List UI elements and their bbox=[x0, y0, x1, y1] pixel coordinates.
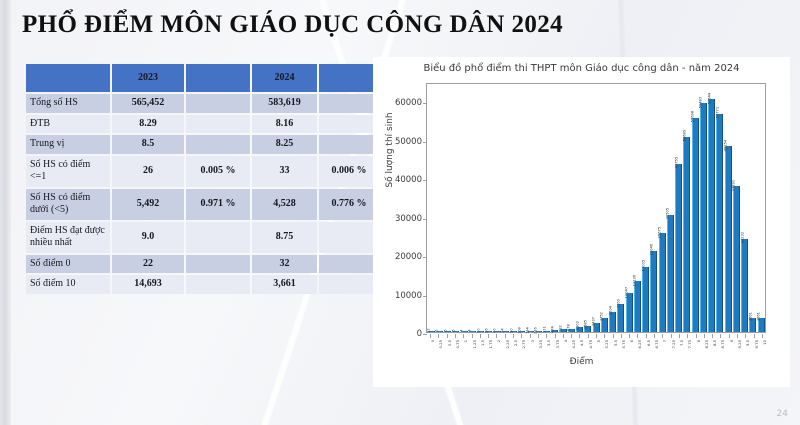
chart-y-axis-label: Số lượng thí sinh bbox=[385, 95, 395, 205]
x-axis-tick-label: 8.5 bbox=[712, 340, 717, 346]
row-value-2023: 9.0 bbox=[112, 222, 184, 253]
chart-bar: 37891 bbox=[733, 186, 740, 332]
x-axis-tick bbox=[646, 334, 647, 338]
x-axis-tick bbox=[654, 334, 655, 338]
x-axis-tick-label: 7.5 bbox=[679, 340, 684, 346]
x-axis-tick-label: 1 bbox=[463, 340, 468, 342]
x-axis-tick-label: 9.5 bbox=[745, 340, 750, 346]
chart-bar: 3661 bbox=[758, 318, 765, 332]
x-axis-tick bbox=[712, 334, 713, 338]
x-axis-tick-label: 5.75 bbox=[621, 340, 626, 348]
chart-bar-cell: 1685 bbox=[584, 84, 592, 332]
chart-bar-cell: 21046 bbox=[650, 84, 658, 332]
x-axis-tick-label: 3.5 bbox=[546, 340, 551, 346]
chart-bar-cell: 226 bbox=[534, 84, 542, 332]
chart-bar-value-label: 10047 bbox=[626, 287, 630, 298]
chart-bar: 3752 bbox=[601, 318, 608, 332]
chart-bar-value-label: 24232 bbox=[741, 232, 745, 243]
table-row: Số điểm 0 22 32 bbox=[26, 255, 379, 274]
chart-bar-cell: 17005 bbox=[642, 84, 650, 332]
x-axis-tick-label: 2.75 bbox=[521, 340, 526, 348]
chart-bar-cell: 4 bbox=[468, 84, 476, 332]
row-pct-2023: 0.005 % bbox=[186, 156, 250, 187]
x-axis-tick bbox=[530, 334, 531, 338]
slide-canvas: PHỔ ĐIỂM MÔN GIÁO DỤC CÔNG DÂN 2024 2023… bbox=[0, 0, 800, 425]
chart-bar-cell: 474 bbox=[551, 84, 559, 332]
x-axis-tick bbox=[604, 334, 605, 338]
chart-bar-cell: 1303 bbox=[576, 84, 584, 332]
chart-bar: 13136 bbox=[634, 281, 641, 332]
table-row: ĐTB 8.29 8.16 bbox=[26, 115, 379, 134]
chart-plot-area: 3266644202640345010813422631147468287813… bbox=[426, 83, 766, 333]
x-axis-tick bbox=[613, 334, 614, 338]
table-row: Số HS có điểm dưới (<5) 5,492 0.971 % 4,… bbox=[26, 189, 379, 220]
chart-bar-value-label: 37891 bbox=[733, 180, 737, 191]
y-axis-tick: 50000 bbox=[395, 137, 422, 147]
x-axis-tick-label: 0.75 bbox=[455, 340, 460, 348]
header-cell-blank3 bbox=[319, 64, 379, 92]
x-axis-tick-label: 7 bbox=[662, 340, 667, 342]
chart-bar-value-label: 40 bbox=[494, 328, 498, 333]
chart-bar: 6 bbox=[452, 331, 459, 332]
chart-bar: 24232 bbox=[741, 239, 748, 332]
x-axis-tick-label: 1.75 bbox=[488, 340, 493, 348]
x-axis-tick-label: 0.5 bbox=[447, 340, 452, 346]
chart-bar: 311 bbox=[543, 331, 550, 332]
x-axis-tick-label: 9 bbox=[729, 340, 734, 342]
x-axis-tick-label: 4.5 bbox=[579, 340, 584, 346]
chart-bar-value-label: 50 bbox=[510, 328, 514, 333]
chart-bar-cell: 24232 bbox=[741, 84, 749, 332]
chart-bar-value-label: 43755 bbox=[675, 157, 679, 168]
chart-bar-cell: 5204 bbox=[609, 84, 617, 332]
chart-bar: 108 bbox=[518, 331, 525, 332]
x-axis-tick-label: 7.25 bbox=[671, 340, 676, 348]
chart-bar: 1303 bbox=[576, 327, 583, 332]
chart-bar-cell: 3661 bbox=[757, 84, 765, 332]
chart-bar-value-label: 30505 bbox=[667, 208, 671, 219]
row-pct-2023 bbox=[186, 115, 250, 134]
x-axis-tick-label: 6.25 bbox=[637, 340, 642, 348]
table-row: Trung vị 8.5 8.25 bbox=[26, 135, 379, 154]
row-value-2024: 8.25 bbox=[252, 135, 317, 154]
chart-bar-value-label: 48254 bbox=[725, 140, 729, 151]
chart-bar: 55698 bbox=[692, 118, 699, 332]
chart-bar-value-label: 26 bbox=[485, 328, 489, 333]
row-value-2024: 3,661 bbox=[252, 275, 317, 294]
x-axis-tick bbox=[513, 334, 514, 338]
x-axis-tick-label: 5.25 bbox=[604, 340, 609, 348]
x-axis-tick bbox=[596, 334, 597, 338]
x-axis-tick bbox=[662, 334, 663, 338]
x-axis-tick-label: 2.25 bbox=[505, 340, 510, 348]
chart-bar: 10047 bbox=[626, 293, 633, 332]
x-axis-tick-label: 8.25 bbox=[704, 340, 709, 348]
x-axis-tick bbox=[480, 334, 481, 338]
chart-bar-value-label: 50689 bbox=[683, 130, 687, 141]
header-cell-blank2 bbox=[186, 64, 250, 92]
x-axis-tick-label: 3.75 bbox=[555, 340, 560, 348]
chart-bar: 226 bbox=[535, 331, 542, 332]
x-axis-tick bbox=[762, 334, 763, 338]
chart-bar-cell: 4 bbox=[460, 84, 468, 332]
chart-bar-cell: 682 bbox=[559, 84, 567, 332]
row-pct-2023 bbox=[186, 255, 250, 274]
y-axis-tick: 40000 bbox=[395, 175, 422, 185]
chart-bar: 6 bbox=[444, 331, 451, 332]
chart-bar-cell: 56771 bbox=[716, 84, 724, 332]
chart-bar-value-label: 56771 bbox=[716, 107, 720, 118]
row-pct-2024 bbox=[319, 255, 379, 274]
table-row: Tổng số HS 565,452 583,619 bbox=[26, 94, 379, 113]
x-axis-tick bbox=[538, 334, 539, 338]
header-cell-2024: 2024 bbox=[252, 64, 317, 92]
x-axis-tick bbox=[729, 334, 730, 338]
x-axis-tick bbox=[546, 334, 547, 338]
chart-bar-cell: 2437 bbox=[592, 84, 600, 332]
x-axis-tick-label: 6.5 bbox=[646, 340, 651, 346]
x-axis-tick bbox=[629, 334, 630, 338]
x-axis-tick bbox=[438, 334, 439, 338]
chart-bar: 878 bbox=[568, 329, 575, 332]
row-pct-2024 bbox=[319, 275, 379, 294]
chart-bar-cell: 43755 bbox=[675, 84, 683, 332]
x-axis-tick bbox=[679, 334, 680, 338]
x-axis-tick-label: 6 bbox=[629, 340, 634, 342]
x-axis-tick-label: 4.25 bbox=[571, 340, 576, 348]
x-axis-tick-label: 5 bbox=[596, 340, 601, 342]
chart-bar-value-label: 25675 bbox=[659, 227, 663, 238]
page-number: 24 bbox=[777, 409, 788, 419]
chart-bar-value-label: 4 bbox=[461, 329, 465, 331]
x-axis-tick-label: 5.5 bbox=[613, 340, 618, 346]
chart-bar-value-label: 1303 bbox=[576, 321, 580, 330]
header-cell-blank bbox=[26, 64, 110, 92]
x-axis-tick bbox=[579, 334, 580, 338]
row-value-2023: 5,492 bbox=[112, 189, 184, 220]
row-pct-2024 bbox=[319, 94, 379, 113]
chart-bar: 7163 bbox=[617, 304, 624, 332]
score-distribution-chart: Biểu đồ phổ điểm thi THPT môn Giáo dục c… bbox=[373, 57, 790, 387]
x-axis-tick bbox=[472, 334, 473, 338]
x-axis-tick bbox=[671, 334, 672, 338]
chart-bar-cell: 37891 bbox=[732, 84, 740, 332]
chart-bar-value-label: 226 bbox=[535, 327, 539, 334]
row-value-2024: 32 bbox=[252, 255, 317, 274]
chart-bars: 3266644202640345010813422631147468287813… bbox=[427, 84, 765, 332]
chart-bar: 56771 bbox=[716, 114, 723, 332]
chart-bar-value-label: 878 bbox=[568, 324, 572, 331]
chart-bar-value-label: 5204 bbox=[609, 306, 613, 315]
chart-bar-cell: 6 bbox=[435, 84, 443, 332]
x-axis-tick-label: 3 bbox=[530, 340, 535, 342]
chart-bar-value-label: 55698 bbox=[692, 111, 696, 122]
row-label: Trung vị bbox=[26, 135, 110, 154]
chart-bar-cell: 60544 bbox=[708, 84, 716, 332]
x-axis-tick bbox=[737, 334, 738, 338]
chart-bar: 43755 bbox=[675, 164, 682, 332]
row-pct-2023: 0.971 % bbox=[186, 189, 250, 220]
x-axis-tick-label: 2.5 bbox=[513, 340, 518, 346]
chart-bar: 5204 bbox=[609, 312, 616, 332]
row-pct-2024 bbox=[319, 222, 379, 253]
chart-bar: 50689 bbox=[683, 137, 690, 332]
x-axis-tick-label: 8 bbox=[696, 340, 701, 342]
row-pct-2024 bbox=[319, 115, 379, 134]
chart-bar-cell: 13136 bbox=[633, 84, 641, 332]
row-label: Số điểm 10 bbox=[26, 275, 110, 294]
stats-table-container: 2023 2024 Tổng số HS 565,452 583,619 ĐTB… bbox=[24, 62, 371, 296]
x-axis-tick-label: 3.25 bbox=[538, 340, 543, 348]
row-value-2024: 8.75 bbox=[252, 222, 317, 253]
y-axis-tick: 0 bbox=[417, 329, 422, 339]
y-axis-tick: 20000 bbox=[395, 252, 422, 262]
row-value-2024: 8.16 bbox=[252, 115, 317, 134]
row-value-2023: 14,693 bbox=[112, 275, 184, 294]
chart-bar-value-label: 6 bbox=[452, 329, 456, 331]
chart-bar-value-label: 7163 bbox=[617, 299, 621, 308]
row-pct-2024: 0.776 % bbox=[319, 189, 379, 220]
x-axis-tick bbox=[455, 334, 456, 338]
chart-bar: 25675 bbox=[659, 233, 666, 332]
x-axis-tick-label: 1.25 bbox=[472, 340, 477, 348]
chart-bar-cell: 30505 bbox=[666, 84, 674, 332]
row-label: Số điểm 0 bbox=[26, 255, 110, 274]
chart-bar-value-label: 474 bbox=[551, 326, 555, 333]
chart-bar-cell: 134 bbox=[526, 84, 534, 332]
page-title: PHỔ ĐIỂM MÔN GIÁO DỤC CÔNG DÂN 2024 bbox=[22, 11, 642, 39]
chart-bar-value-label: 60544 bbox=[708, 92, 712, 103]
chart-bar-value-label: 311 bbox=[543, 326, 547, 333]
chart-bar: 21046 bbox=[650, 251, 657, 332]
row-label: Tổng số HS bbox=[26, 94, 110, 113]
chart-bar: 20 bbox=[477, 331, 484, 332]
chart-bar-value-label: 13136 bbox=[634, 275, 638, 286]
chart-bar-value-label: 20 bbox=[477, 328, 481, 333]
chart-bar-cell: 48254 bbox=[724, 84, 732, 332]
chart-bar-value-label: 3661 bbox=[758, 312, 762, 321]
row-value-2024: 4,528 bbox=[252, 189, 317, 220]
x-axis-tick bbox=[463, 334, 464, 338]
chart-bar-cell: 3752 bbox=[600, 84, 608, 332]
chart-bar-cell: 50 bbox=[510, 84, 518, 332]
chart-title: Biểu đồ phổ điểm thi THPT môn Giáo dục c… bbox=[373, 63, 790, 74]
chart-x-axis-label: Điểm bbox=[373, 357, 790, 367]
chart-bar-cell: 6 bbox=[452, 84, 460, 332]
x-axis-tick bbox=[488, 334, 489, 338]
chart-bar-value-label: 6 bbox=[444, 329, 448, 331]
chart-bar: 59483 bbox=[700, 103, 707, 332]
x-axis-tick-label: 7.75 bbox=[687, 340, 692, 348]
row-value-2023: 565,452 bbox=[112, 94, 184, 113]
x-axis-tick-label: 4 bbox=[563, 340, 568, 342]
row-value-2024: 33 bbox=[252, 156, 317, 187]
chart-bar: 34 bbox=[502, 331, 509, 332]
chart-bar-cell: 55698 bbox=[691, 84, 699, 332]
y-axis-tick: 30000 bbox=[395, 214, 422, 224]
chart-bar-cell: 59483 bbox=[699, 84, 707, 332]
x-axis-tick bbox=[637, 334, 638, 338]
row-pct-2023 bbox=[186, 222, 250, 253]
x-axis-tick bbox=[720, 334, 721, 338]
chart-bar-cell: 311 bbox=[543, 84, 551, 332]
chart-bar-cell: 108 bbox=[518, 84, 526, 332]
row-pct-2023 bbox=[186, 135, 250, 154]
chart-bar: 17005 bbox=[642, 267, 649, 332]
x-axis-tick-label: 9.75 bbox=[754, 340, 759, 348]
x-axis-tick-label: 10 bbox=[762, 340, 767, 345]
chart-bar-cell: 26 bbox=[485, 84, 493, 332]
chart-bar-value-label: 34 bbox=[502, 328, 506, 333]
x-axis-tick bbox=[521, 334, 522, 338]
x-axis-tick-label: 4.75 bbox=[588, 340, 593, 348]
chart-bar-value-label: 32 bbox=[428, 328, 432, 333]
x-axis-tick bbox=[447, 334, 448, 338]
row-label: Số HS có điểm <=1 bbox=[26, 156, 110, 187]
chart-bar-value-label: 6 bbox=[436, 329, 440, 331]
chart-bar: 50 bbox=[510, 331, 517, 332]
x-axis-tick-label: 0.25 bbox=[438, 340, 443, 348]
chart-bar: 30505 bbox=[667, 215, 674, 332]
chart-bar: 4 bbox=[469, 331, 476, 332]
x-axis-tick bbox=[621, 334, 622, 338]
x-axis-tick bbox=[430, 334, 431, 338]
row-value-2024: 583,619 bbox=[252, 94, 317, 113]
chart-bar-value-label: 3752 bbox=[601, 312, 605, 321]
x-axis-tick-label: 2 bbox=[496, 340, 501, 342]
chart-bar-cell: 878 bbox=[567, 84, 575, 332]
y-axis-tick: 60000 bbox=[395, 98, 422, 108]
chart-bar: 474 bbox=[551, 330, 558, 332]
chart-bar: 6 bbox=[436, 331, 443, 332]
x-axis-tick-label: 6.75 bbox=[654, 340, 659, 348]
x-axis-tick-label: 9.25 bbox=[737, 340, 742, 348]
chart-bar-value-label: 1685 bbox=[584, 320, 588, 329]
chart-bar: 60544 bbox=[708, 99, 715, 332]
x-axis-tick bbox=[754, 334, 755, 338]
chart-bar-cell: 10047 bbox=[625, 84, 633, 332]
row-value-2023: 22 bbox=[112, 255, 184, 274]
x-axis-tick-label: 1.5 bbox=[480, 340, 485, 346]
chart-bar: 3661 bbox=[749, 318, 756, 332]
x-axis-tick-label: 8.75 bbox=[720, 340, 725, 348]
row-pct-2024 bbox=[319, 135, 379, 154]
x-axis-tick bbox=[496, 334, 497, 338]
table-row: Điểm HS đạt được nhiều nhất 9.0 8.75 bbox=[26, 222, 379, 253]
row-pct-2023 bbox=[186, 275, 250, 294]
x-axis-tick-label: 0 bbox=[430, 340, 435, 342]
chart-bar-value-label: 3661 bbox=[749, 312, 753, 321]
row-value-2023: 8.29 bbox=[112, 115, 184, 134]
x-axis-tick bbox=[588, 334, 589, 338]
row-pct-2023 bbox=[186, 94, 250, 113]
chart-bar: 48254 bbox=[725, 146, 732, 332]
row-label: Điểm HS đạt được nhiều nhất bbox=[26, 222, 110, 253]
chart-bar-cell: 34 bbox=[501, 84, 509, 332]
chart-bar-value-label: 21046 bbox=[650, 244, 654, 255]
chart-bar-cell: 3661 bbox=[749, 84, 757, 332]
row-label: ĐTB bbox=[26, 115, 110, 134]
chart-bar-value-label: 4 bbox=[469, 329, 473, 331]
chart-bar: 2437 bbox=[593, 323, 600, 332]
x-axis-tick bbox=[696, 334, 697, 338]
header-cell-2023: 2023 bbox=[112, 64, 184, 92]
table-row: Số HS có điểm <=1 26 0.005 % 33 0.006 % bbox=[26, 156, 379, 187]
chart-bar-cell: 32 bbox=[427, 84, 435, 332]
table-row: Số điểm 10 14,693 3,661 bbox=[26, 275, 379, 294]
chart-bar-value-label: 108 bbox=[518, 327, 522, 334]
row-value-2023: 8.5 bbox=[112, 135, 184, 154]
x-axis-tick bbox=[563, 334, 564, 338]
chart-bar-value-label: 17005 bbox=[642, 260, 646, 271]
row-value-2023: 26 bbox=[112, 156, 184, 187]
stats-table: 2023 2024 Tổng số HS 565,452 583,619 ĐTB… bbox=[24, 62, 381, 296]
x-axis-tick bbox=[571, 334, 572, 338]
row-pct-2024: 0.006 % bbox=[319, 156, 379, 187]
row-label: Số HS có điểm dưới (<5) bbox=[26, 189, 110, 220]
x-axis-tick bbox=[505, 334, 506, 338]
x-axis-tick bbox=[704, 334, 705, 338]
chart-bar: 26 bbox=[485, 331, 492, 332]
chart-bar-cell: 6 bbox=[444, 84, 452, 332]
chart-bar-value-label: 59483 bbox=[700, 97, 704, 108]
table-header-row: 2023 2024 bbox=[26, 64, 379, 92]
y-axis-tick: 10000 bbox=[395, 291, 422, 301]
chart-bar-value-label: 682 bbox=[560, 325, 564, 332]
chart-bar-value-label: 2437 bbox=[593, 317, 597, 326]
x-axis-tick bbox=[687, 334, 688, 338]
chart-bar-value-label: 134 bbox=[527, 327, 531, 334]
x-axis-tick bbox=[745, 334, 746, 338]
chart-bar: 1685 bbox=[584, 326, 591, 332]
x-axis-tick bbox=[555, 334, 556, 338]
chart-bar-cell: 20 bbox=[477, 84, 485, 332]
chart-bar-cell: 40 bbox=[493, 84, 501, 332]
